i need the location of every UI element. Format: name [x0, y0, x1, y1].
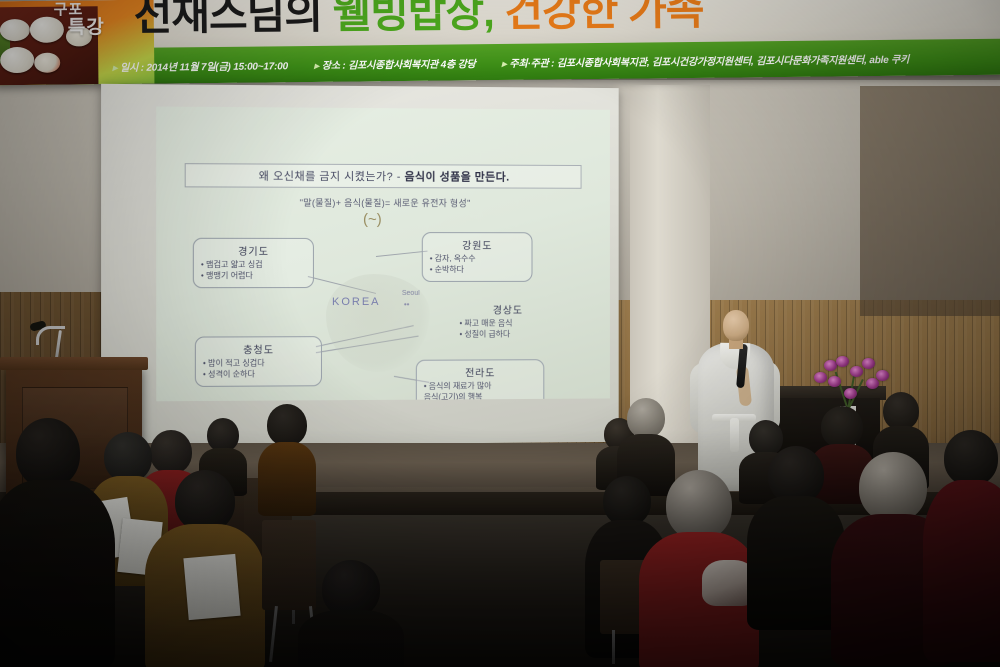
speaker-head [723, 310, 749, 341]
audience-member-foreground [306, 560, 396, 667]
slide-title-text: 왜 오신채를 금지 시켰는가? - [259, 171, 405, 184]
audience-member [756, 446, 836, 626]
callout-line: • 맹맹기 어렵다 [201, 271, 306, 282]
callout-heading: 강원도 [430, 237, 525, 252]
handout-paper[interactable] [183, 554, 240, 620]
audience-head-grey-hair [627, 398, 665, 438]
orchid-bloom [866, 378, 879, 389]
chair-leg [612, 630, 615, 664]
bullet-icon: ▸ [314, 60, 319, 71]
audience-body [298, 610, 404, 667]
callout-line: • 순박하다 [430, 265, 525, 276]
orchid-bloom [836, 356, 849, 367]
banner-kicker-line2: 특강 [68, 18, 105, 38]
callout-leader-line [376, 251, 428, 257]
audience-head [104, 432, 152, 482]
projection-screen: 왜 오신채를 금지 시켰는가? - 음식이 성품을 만든다. "말(물질)+ 음… [101, 84, 619, 446]
callout-line: 음식(고기)의 행복 [424, 392, 537, 402]
callout-heading: 전라도 [424, 364, 537, 379]
orchid-bloom [844, 388, 857, 399]
map-capital-label: Seoul [402, 290, 420, 297]
bullet-icon: ▸ [112, 63, 117, 74]
audience-head [944, 430, 998, 486]
banner-kicker-line1: 구포 [54, 1, 84, 18]
audience-member [258, 404, 316, 514]
callout-line: • 성격이 순하다 [203, 369, 314, 380]
callout-line: • 음식의 재료가 많아 [424, 381, 537, 392]
podium-top [0, 357, 148, 370]
callout-line: • 맵겁고 얇고 싱겁 [201, 260, 306, 271]
audience-head-grey-hair [666, 470, 732, 540]
orchid-bloom [814, 372, 827, 383]
map-country-label: KOREA [332, 296, 381, 308]
orchid-bloom [828, 376, 841, 387]
callout-chungcheong: 충청도 • 밥이 적고 싱겁다 • 성격이 순하다 [195, 336, 322, 386]
callout-gyeongsang: 경상도 • 짜고 매운 음식 • 성질이 급하다 [453, 298, 563, 346]
audience-body [923, 480, 1000, 662]
banner-date-text: 일시 : 2014년 11월 7일(금) 15:00~17:00 [120, 61, 288, 74]
speaker-sash [730, 418, 739, 452]
audience-head [267, 404, 307, 446]
callout-line: • 성질이 급하다 [459, 329, 556, 340]
audience-body [258, 442, 316, 516]
callout-gyeonggi: 경기도 • 맵겁고 얇고 싱겁 • 맹맹기 어렵다 [193, 238, 314, 288]
audience-head [883, 392, 919, 430]
banner-host: ▸주최·주관 : 김포시종합사회복지관, 김포시건강가정지원센터, 김포시다문화… [502, 50, 910, 69]
banner-host-text: 주최·주관 : 김포시종합사회복지관, 김포시건강가정지원센터, 김포시다문화가… [509, 54, 909, 69]
food-bowl [0, 19, 30, 41]
orchid-bloom [876, 370, 889, 381]
audience-head [821, 406, 863, 448]
audience-head-grey-hair [859, 452, 927, 522]
wall-shadow-right [860, 86, 1000, 316]
callout-line: • 짜고 매운 음식 [459, 319, 556, 330]
callout-heading: 경상도 [459, 302, 556, 317]
audience-head [207, 418, 239, 452]
slide-title: 왜 오신채를 금지 시켰는가? - 음식이 성품을 만든다. [185, 163, 582, 189]
audience-head [16, 418, 80, 488]
callout-heading: 경기도 [201, 243, 306, 258]
presentation-slide: 왜 오신채를 금지 시켰는가? - 음식이 성품을 만든다. "말(물질)+ 음… [156, 106, 610, 401]
map-shape [326, 274, 430, 372]
banner-place-text: 장소 : 김포시종합사회복지관 4층 강당 [322, 59, 476, 72]
banner-title-segment-3: 건강한 가족 [504, 0, 703, 35]
banner-date: ▸일시 : 2014년 11월 7일(금) 15:00~17:00 [112, 57, 288, 74]
audience-body [0, 480, 115, 667]
banner-title-segment-1: 선재스님의 [133, 0, 332, 39]
lecture-hall-photo: 구포 특강 선재스님의 웰빙밥상, 건강한 가족 ▸일시 : 2014년 11월… [0, 0, 1000, 667]
bullet-icon: ▸ [502, 58, 507, 69]
banner-title-segment-2: 웰빙밥상, [332, 0, 504, 37]
callout-heading: 충청도 [203, 341, 314, 357]
audience-head [175, 470, 235, 532]
audience-head [603, 476, 651, 526]
audience-member [936, 430, 1000, 660]
orchid-bloom [862, 358, 875, 369]
banner-place: ▸장소 : 김포시종합사회복지관 4층 강당 [314, 55, 476, 72]
callout-gangwon: 강원도 • 감자, 옥수수 • 순박하다 [422, 232, 533, 281]
map-capital-marker-icon: •• [404, 300, 410, 309]
orchid-bloom [850, 366, 863, 377]
slide-title-emphasis: 음식이 성품을 만든다. [404, 171, 509, 183]
slide-scribble: (~) [363, 211, 407, 231]
audience-member-foreground [0, 418, 110, 667]
callout-jeolla: 전라도 • 음식의 재료가 많아 음식(고기)의 행복 • 색물도맛이 많다 [416, 359, 544, 401]
slide-subtitle: "말(물질)+ 음식(물질)= 새로운 유전자 형성" [156, 195, 610, 209]
banner-kicker: 구포 특강 [54, 2, 105, 38]
event-banner: 구포 특강 선재스님의 웰빙밥상, 건강한 가족 ▸일시 : 2014년 11월… [0, 0, 1000, 85]
callout-line: • 감자, 옥수수 [430, 254, 525, 265]
callout-line: • 밥이 적고 싱겁다 [203, 358, 314, 369]
